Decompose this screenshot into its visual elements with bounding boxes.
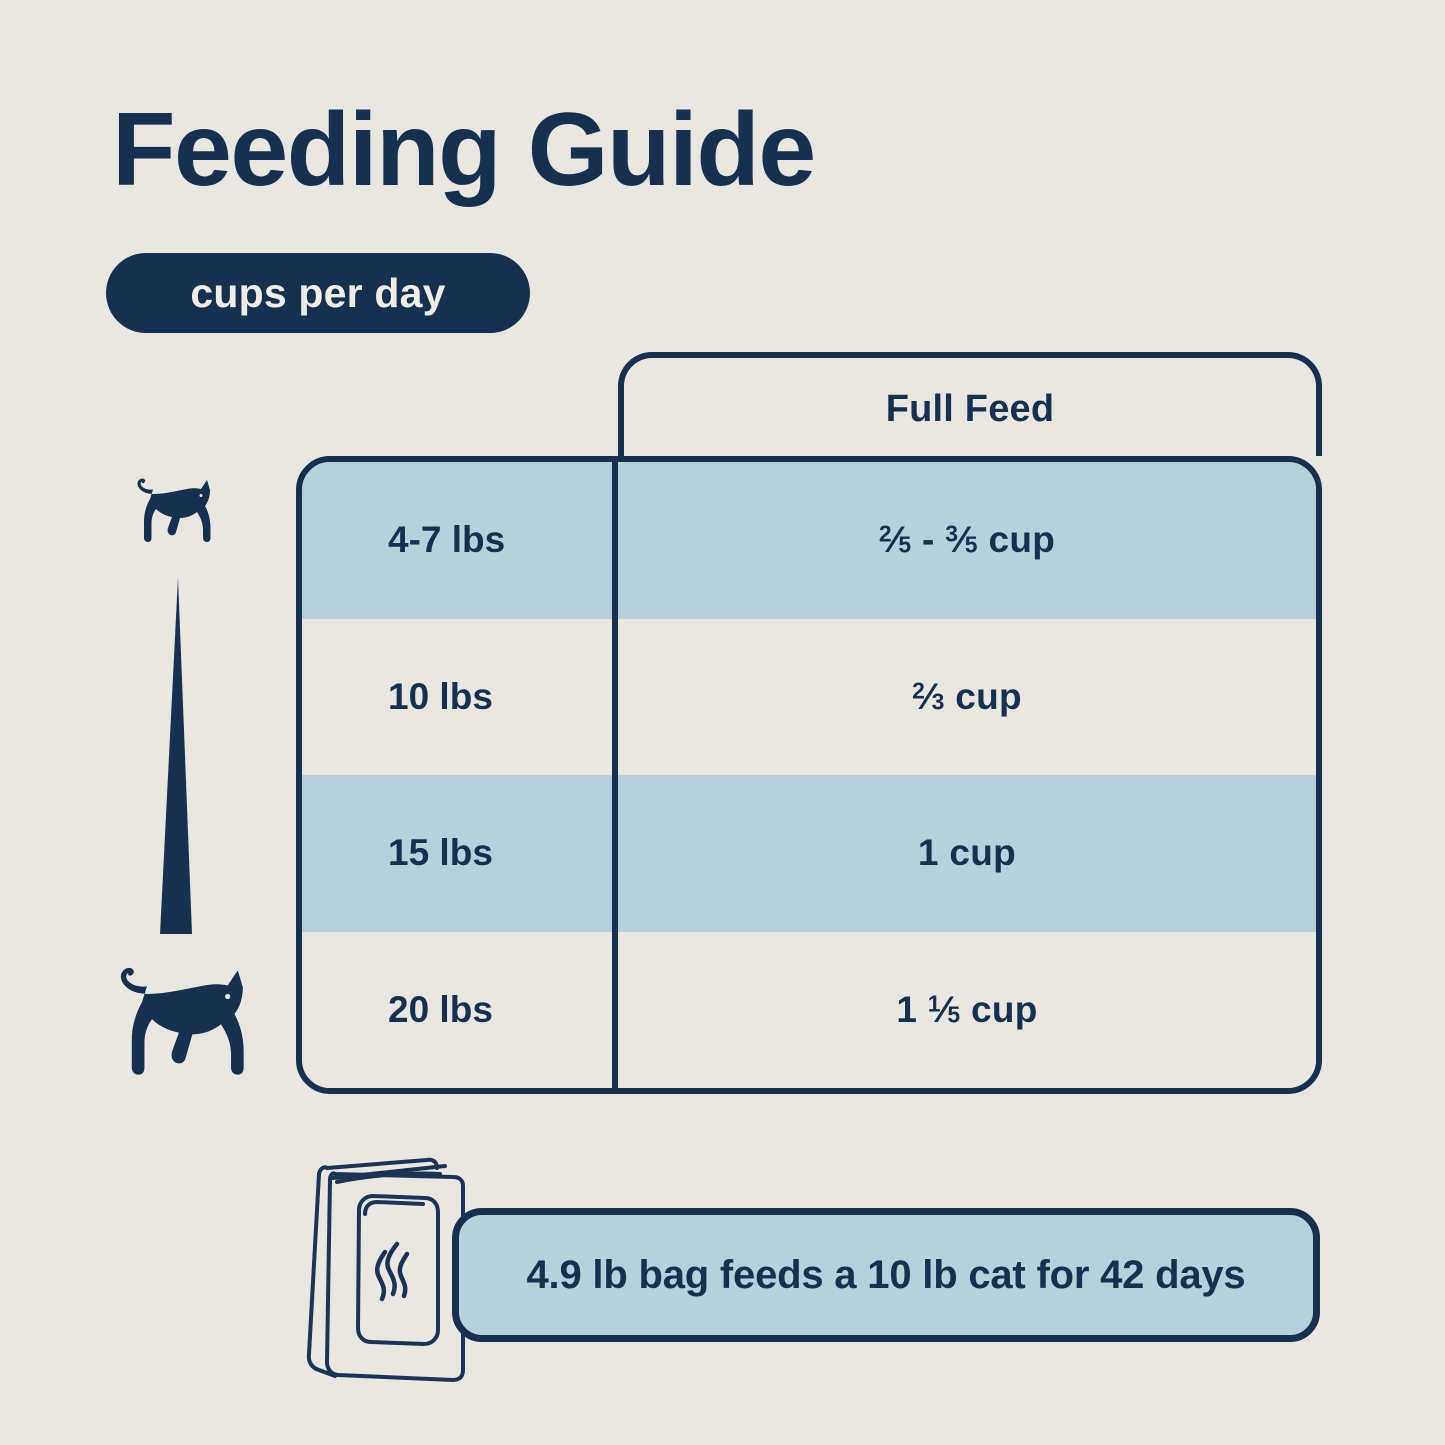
- amount-value: 2⁄3 cup: [912, 676, 1022, 718]
- infographic-canvas: Feeding Guide cups per day Full Feed: [0, 0, 1445, 1445]
- table-body: 4-7 lbs 2⁄5 - 3⁄5 cup 10 lbs 2⁄3 cup 15 …: [296, 456, 1322, 1094]
- flame-swirl-icon: [377, 1244, 407, 1299]
- table-row: 15 lbs 1 cup: [302, 775, 1316, 932]
- cell-weight: 15 lbs: [302, 775, 618, 932]
- cell-amount: 2⁄5 - 3⁄5 cup: [618, 462, 1316, 619]
- cups-per-day-badge: cups per day: [106, 253, 530, 333]
- feeding-table: Full Feed 4-7 lbs 2⁄5 - 3⁄5 cup 10 lbs 2…: [296, 352, 1322, 1094]
- amount-value: 2⁄5 - 3⁄5 cup: [879, 519, 1055, 561]
- cell-weight: 20 lbs: [302, 932, 618, 1089]
- cat-silhouette-icon-small: [112, 468, 222, 548]
- column-divider: [612, 456, 618, 1094]
- badge-label: cups per day: [190, 270, 445, 317]
- size-increase-wedge-icon: [148, 578, 208, 938]
- cell-amount: 2⁄3 cup: [618, 619, 1316, 776]
- full-feed-header-label: Full Feed: [886, 388, 1055, 431]
- full-feed-header-cell: Full Feed: [618, 352, 1322, 456]
- bag-duration-banner: 4.9 lb bag feeds a 10 lb cat for 42 days: [452, 1208, 1320, 1342]
- table-row: 4-7 lbs 2⁄5 - 3⁄5 cup: [302, 462, 1316, 619]
- table-row: 10 lbs 2⁄3 cup: [302, 619, 1316, 776]
- cat-silhouette-icon-large: [78, 950, 263, 1085]
- cell-weight: 10 lbs: [302, 619, 618, 776]
- cell-weight: 4-7 lbs: [302, 462, 618, 619]
- table-row: 20 lbs 1 1⁄5 cup: [302, 932, 1316, 1089]
- page-title: Feeding Guide: [112, 96, 815, 205]
- cell-amount: 1 cup: [618, 775, 1316, 932]
- bag-duration-text: 4.9 lb bag feeds a 10 lb cat for 42 days: [527, 1253, 1246, 1298]
- cell-amount: 1 1⁄5 cup: [618, 932, 1316, 1089]
- amount-value: 1 1⁄5 cup: [896, 989, 1037, 1031]
- amount-value: 1 cup: [918, 832, 1016, 874]
- cat-size-scale: [60, 460, 290, 1100]
